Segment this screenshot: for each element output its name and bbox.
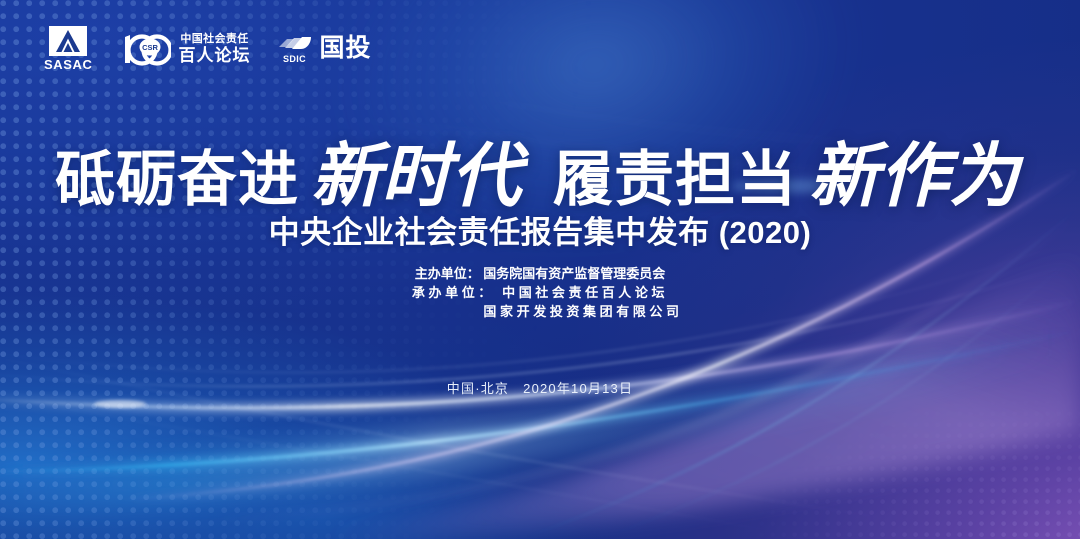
headline-part1-regular: 砥砺奋进 bbox=[55, 131, 299, 218]
sdic-logo[interactable]: SDIC 国投 bbox=[277, 34, 372, 64]
event-location: 中国·北京 bbox=[447, 381, 509, 396]
sdic-wordmark: SDIC bbox=[283, 55, 306, 64]
csr-forum-logo[interactable]: CSR 中国社会责任 百人论坛 bbox=[119, 31, 251, 67]
sponsor-logo-bar: SASAC CSR 中国社会责任 百人论坛 bbox=[44, 26, 372, 71]
headline-part1-brush: 新时代 bbox=[311, 120, 521, 221]
organizer-line-coorganizer: 承办单位： 中国社会责任百人论坛 bbox=[0, 283, 1080, 302]
sdic-chinese-name: 国投 bbox=[320, 36, 372, 61]
page-subtitle: 中央企业社会责任报告集中发布 (2020) bbox=[0, 207, 1080, 252]
event-date: 2020年10月13日 bbox=[523, 381, 633, 396]
triangle-a-mark-icon bbox=[49, 26, 87, 56]
organizer-block: 主办单位： 国务院国有资产监督管理委员会 承办单位： 中国社会责任百人论坛 国家… bbox=[0, 264, 1080, 321]
csr-forum-line2: 百人论坛 bbox=[179, 47, 251, 64]
event-poster: SASAC CSR 中国社会责任 百人论坛 bbox=[0, 0, 1080, 539]
100-csr-circle-mark-icon: CSR bbox=[119, 31, 171, 67]
sasac-logo[interactable]: SASAC bbox=[44, 26, 93, 71]
event-date-location: 中国·北京2020年10月13日 bbox=[0, 378, 1080, 397]
csr-forum-wordmark: 中国社会责任 百人论坛 bbox=[179, 34, 251, 64]
headline-part2-brush: 新作为 bbox=[809, 120, 1019, 221]
sasac-wordmark: SASAC bbox=[44, 58, 93, 71]
organizer-line-host: 主办单位： 国务院国有资产监督管理委员会 bbox=[0, 264, 1080, 283]
sdic-chevron-mark-icon: SDIC bbox=[277, 34, 313, 64]
svg-text:CSR: CSR bbox=[142, 43, 158, 52]
csr-forum-line1: 中国社会责任 bbox=[180, 34, 248, 45]
headline-part2-regular: 履责担当 bbox=[553, 131, 797, 218]
page-title: 砥砺奋进新时代履责担当新作为 bbox=[0, 120, 1080, 221]
organizer-line-coorganizer-2: 国家开发投资集团有限公司 bbox=[0, 302, 1080, 321]
